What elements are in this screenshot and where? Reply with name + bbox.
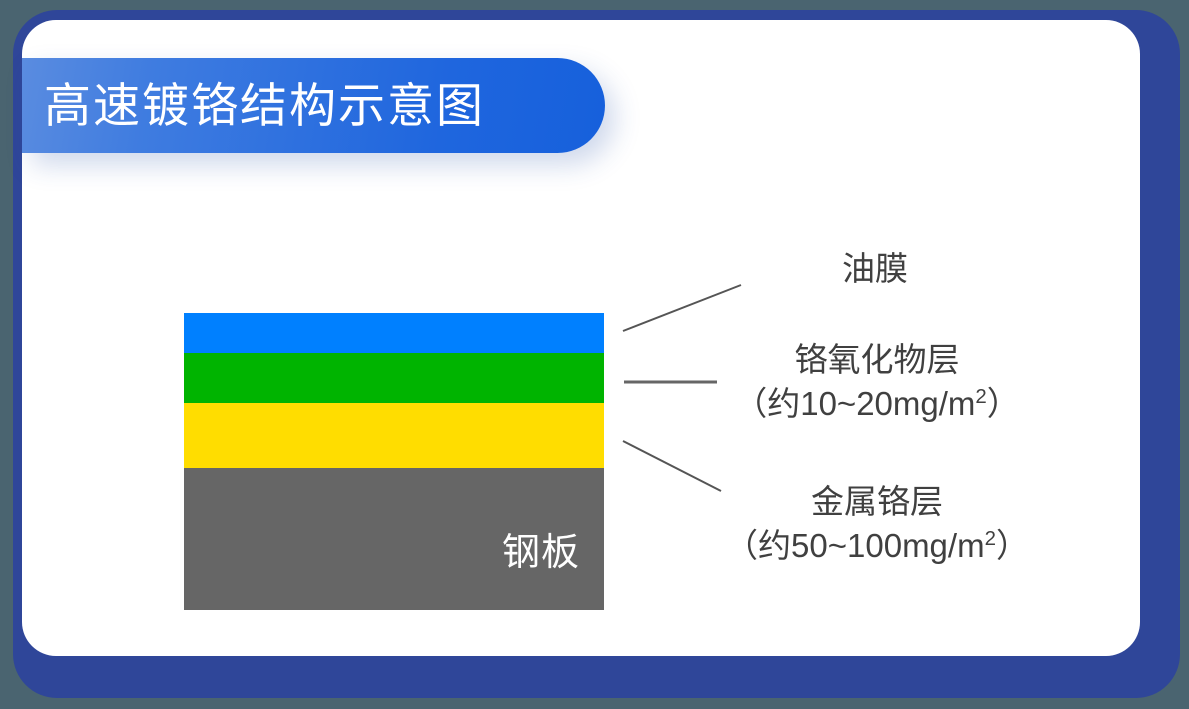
layer-stack-diagram: 钢板 [184,313,604,610]
annotation-chromium-oxide-amount: （约10~20mg/m2） [722,382,1032,426]
layer-oil-film [184,313,604,353]
layer-metallic-chrome [184,403,604,468]
layer-steel-substrate: 钢板 [184,468,604,610]
annotation-chromium-oxide-title: 铬氧化物层 [722,338,1032,382]
oxide-amount-exponent: 2 [975,385,986,408]
annotation-metallic-chrome-title: 金属铬层 [722,480,1032,524]
steel-substrate-label: 钢板 [502,534,580,572]
annotation-chromium-oxide: 铬氧化物层 （约10~20mg/m2） [722,338,1032,426]
title-banner: 高速镀铬结构示意图 [22,58,605,153]
annotation-oil-film-title: 油膜 [760,247,990,291]
page-title: 高速镀铬结构示意图 [22,82,485,129]
annotation-oil-film: 油膜 [760,247,990,291]
metal-amount-suffix: ） [996,527,1029,564]
annotation-metallic-chrome: 金属铬层 （约50~100mg/m2） [722,480,1032,568]
metal-amount-prefix: （约50~100mg/m [725,527,985,564]
layer-chromium-oxide [184,353,604,403]
metal-amount-exponent: 2 [985,527,996,550]
oxide-amount-suffix: ） [987,385,1020,422]
annotation-metallic-chrome-amount: （约50~100mg/m2） [722,524,1032,568]
oxide-amount-prefix: （约10~20mg/m [734,385,975,422]
